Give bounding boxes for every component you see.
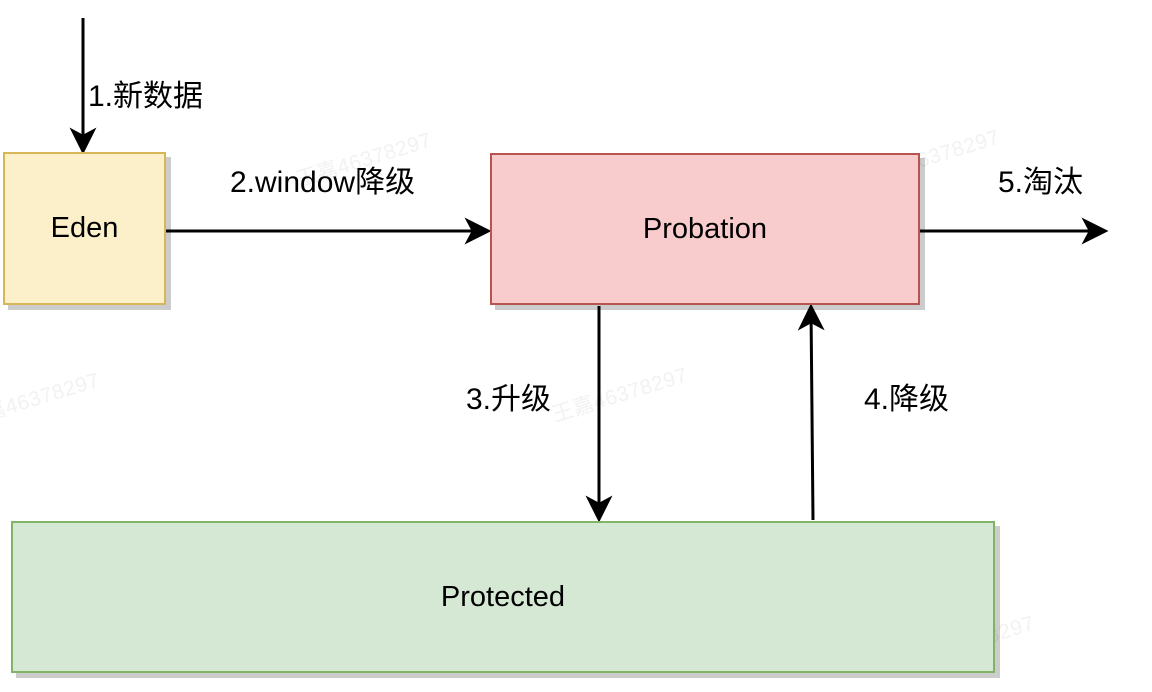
node-probation-label: Probation [643,215,767,244]
edge-demote [811,308,813,520]
node-eden[interactable]: Eden [3,152,166,305]
watermark: 王嘉46378297 [548,359,691,429]
edge-label-evict: 5.淘汰 [998,168,1083,198]
node-eden-label: Eden [51,214,119,243]
edge-label-window-demote: 2.window降级 [230,168,415,198]
edge-label-demote: 4.降级 [864,385,949,415]
node-probation[interactable]: Probation [490,153,920,305]
node-protected-label: Protected [441,583,565,612]
watermark: 王嘉46378297 [0,364,103,434]
edge-label-promote: 3.升级 [466,385,551,415]
node-protected[interactable]: Protected [11,521,995,673]
diagram-canvas: 王嘉46378297 王嘉46378297 王嘉46378297 王嘉46378… [0,0,1152,692]
edge-label-new-data: 1.新数据 [88,82,203,112]
